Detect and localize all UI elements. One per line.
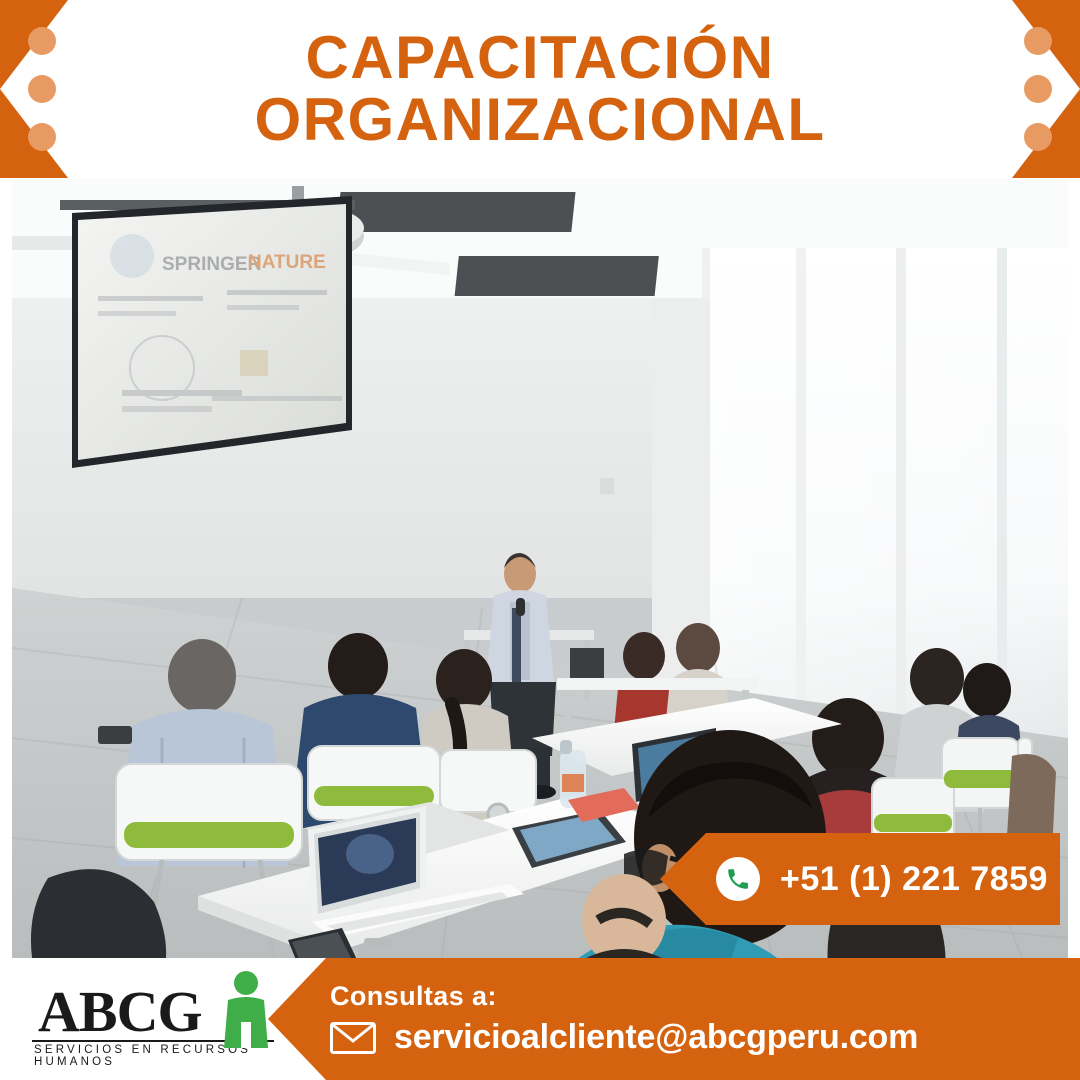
envelope-icon: [330, 1022, 376, 1054]
projection-screen: SPRINGER NATURE: [60, 196, 355, 468]
chair-accent: [944, 770, 1018, 788]
phone-icon: [716, 857, 760, 901]
consultas-label: Consultas a:: [330, 981, 918, 1012]
phone-badge[interactable]: +51 (1) 221 7859: [660, 833, 1060, 925]
chair-accent: [124, 822, 294, 848]
logo-wordmark: ABCG: [38, 978, 202, 1045]
email-row[interactable]: servicioalcliente@abcgperu.com: [330, 1018, 918, 1057]
chair-accent: [314, 786, 434, 806]
decorative-dots-left: [12, 0, 72, 178]
poster-canvas: CAPACITACIÓN ORGANIZACIONAL: [0, 0, 1080, 1080]
dot: [28, 123, 56, 151]
chair-accent: [874, 814, 952, 832]
dot: [28, 75, 56, 103]
phone-number: +51 (1) 221 7859: [780, 860, 1048, 899]
dot: [1024, 27, 1052, 55]
dot: [28, 27, 56, 55]
footer-contact: Consultas a: servicioalcliente@abcgperu.…: [330, 958, 918, 1080]
footer: ABCG SERVICIOS EN RECURSOS HUMANOS Consu…: [0, 958, 1080, 1080]
title-line-1: CAPACITACIÓN: [305, 27, 774, 89]
abcg-logo[interactable]: ABCG SERVICIOS EN RECURSOS HUMANOS: [18, 972, 278, 1068]
person-icon: [214, 970, 278, 1048]
decorative-dots-right: [1008, 0, 1068, 178]
dot: [1024, 75, 1052, 103]
svg-text:NATURE: NATURE: [248, 252, 326, 273]
title-line-2: ORGANIZACIONAL: [255, 89, 826, 151]
page-title: CAPACITACIÓN ORGANIZACIONAL: [80, 0, 1000, 178]
svg-text:SPRINGER: SPRINGER: [162, 254, 262, 275]
email-address: servicioalcliente@abcgperu.com: [394, 1018, 918, 1057]
header-banner: CAPACITACIÓN ORGANIZACIONAL: [0, 0, 1080, 178]
dot: [1024, 123, 1052, 151]
